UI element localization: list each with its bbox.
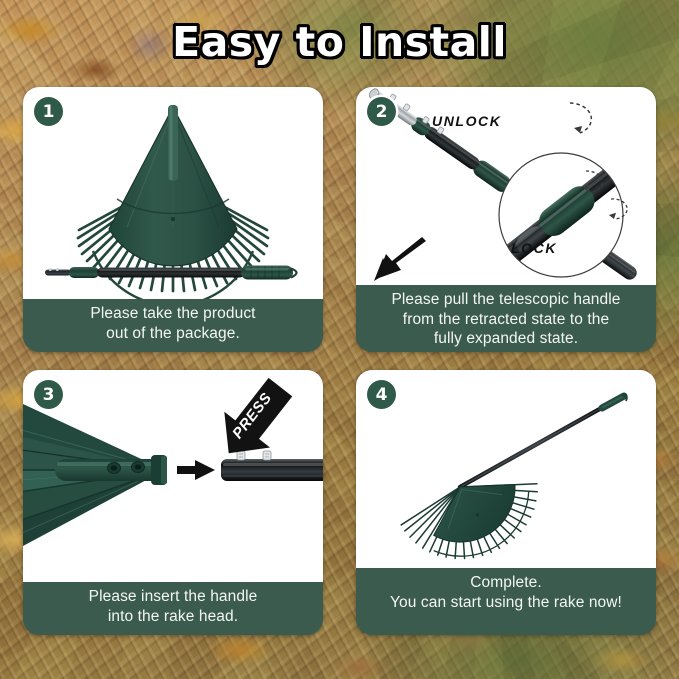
step-4-illustration-stage: 4	[356, 370, 656, 568]
caption-line: fully expanded state.	[366, 329, 646, 349]
step-number-badge-3: 3	[34, 380, 63, 409]
caption-line: Please pull the telescopic handle	[366, 290, 646, 310]
lock-label: LOCK	[511, 240, 557, 256]
unlock-label: UNLOCK	[432, 113, 501, 129]
step-panel-2: 2	[356, 87, 656, 352]
step-panel-4: 4	[356, 370, 656, 635]
telescopic-handle-detached	[45, 266, 297, 280]
rake-pole	[460, 395, 627, 487]
step-number-badge-1: 1	[34, 97, 63, 126]
step-4-caption: Complete. You can start using the rake n…	[356, 568, 656, 635]
caption-line: out of the package.	[33, 324, 313, 344]
caption-line: Complete.	[366, 573, 646, 593]
rake-head-assembled	[401, 451, 556, 568]
insert-direction-arrow	[177, 460, 215, 480]
insert-handle-illustration: PRESS	[23, 370, 323, 582]
caption-line: into the rake head.	[33, 607, 313, 627]
step-panel-1: 1	[23, 87, 323, 352]
caption-line: You can start using the rake now!	[366, 593, 646, 613]
step-number-badge-2: 2	[367, 97, 396, 126]
step-2-caption: Please pull the telescopic handle from t…	[356, 285, 656, 352]
step-2-illustration-stage: 2	[356, 87, 656, 285]
instruction-poster: Easy to Install 1	[0, 0, 679, 679]
page-title: Easy to Install	[0, 22, 679, 63]
step-3-caption: Please insert the handle into the rake h…	[23, 582, 323, 635]
caption-line: Please insert the handle	[33, 587, 313, 607]
pull-arrow	[374, 237, 426, 281]
assembled-rake-illustration	[356, 370, 656, 568]
press-arrow: PRESS	[206, 370, 303, 471]
handle-shaft	[221, 451, 323, 481]
caption-line: from the retracted state to the	[366, 310, 646, 330]
caption-line: Please take the product	[33, 304, 313, 324]
step-panel-3: 3	[23, 370, 323, 635]
step-number-badge-4: 4	[367, 380, 396, 409]
rake-head-and-handle-illustration	[23, 87, 323, 299]
step-3-illustration-stage: 3	[23, 370, 323, 582]
telescopic-pole-illustration	[356, 87, 656, 285]
step-1-illustration-stage: 1	[23, 87, 323, 299]
rake-head-socket	[23, 390, 167, 562]
step-1-caption: Please take the product out of the packa…	[23, 299, 323, 352]
